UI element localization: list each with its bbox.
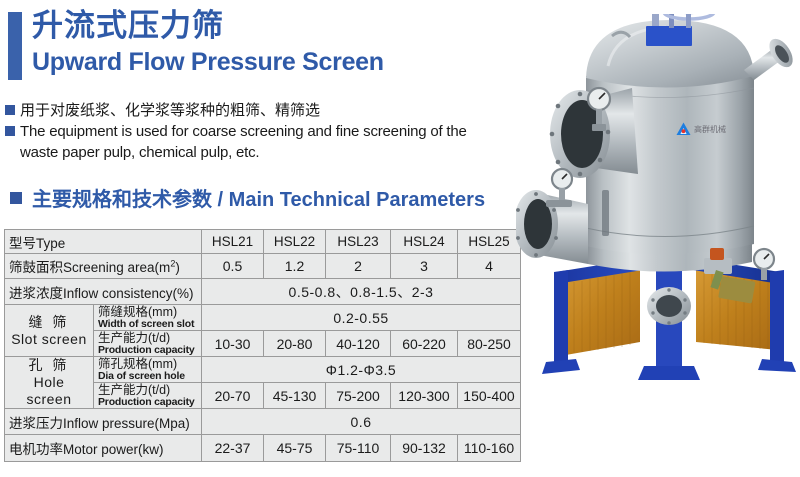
page-title-cn: 升流式压力筛 — [32, 8, 224, 44]
cell-motor-power-hsl25: 110-160 — [458, 435, 521, 462]
cell-area-hsl22: 1.2 — [264, 254, 326, 279]
description-item-en: The equipment is used for coarse screeni… — [4, 121, 524, 163]
description-text-en-line2: waste paper pulp, chemical pulp, etc. — [20, 142, 524, 163]
col-header-hsl25: HSL25 — [458, 230, 521, 254]
sub-label-hole-capacity-en: Production capacity — [98, 396, 197, 408]
base-foot-right — [758, 359, 796, 372]
table-row: 电机功率Motor power(kw) 22-37 45-75 75-110 9… — [5, 435, 521, 462]
base-foot-left — [542, 359, 580, 374]
row-label-inflow-consistency: 进浆浓度Inflow consistency(%) — [5, 279, 202, 305]
row-label-screening-area-tail: ) — [175, 260, 180, 275]
base-column-right — [770, 270, 784, 366]
specifications-table: 型号Type HSL21 HSL22 HSL23 HSL24 HSL25 筛鼓面… — [4, 229, 521, 462]
sub-label-hole-dia-cn: 筛孔规格(mm) — [98, 358, 197, 370]
upper-right-outlet — [744, 35, 797, 80]
cell-hole-capacity-hsl24: 120-300 — [391, 383, 458, 409]
square-bullet-icon — [10, 192, 22, 204]
cell-slot-capacity-hsl22: 20-80 — [264, 331, 326, 357]
description-text-cn: 用于对废纸浆、化学浆等浆种的粗筛、精筛选 — [20, 102, 320, 119]
table-row: 进浆压力Inflow pressure(Mpa) 0.6 — [5, 409, 521, 435]
cell-slot-capacity-hsl23: 40-120 — [326, 331, 391, 357]
gauge-stem-base — [761, 268, 767, 280]
pressure-screen-illustration — [516, 14, 800, 434]
sub-label-hole-dia-en: Dia of screen hole — [98, 370, 197, 382]
description-text-en-line1: The equipment is used for coarse screeni… — [20, 123, 467, 140]
square-bullet-icon — [5, 126, 15, 136]
machine-base-frame — [542, 254, 796, 380]
row-label-inflow-pressure: 进浆压力Inflow pressure(Mpa) — [5, 409, 202, 435]
row-label-motor-power: 电机功率Motor power(kw) — [5, 435, 202, 462]
sub-label-slot-capacity-cn: 生产能力(t/d) — [98, 332, 197, 344]
cell-motor-power-hsl24: 90-132 — [391, 435, 458, 462]
brand-logo: 高群机械 — [676, 122, 726, 136]
page-header: 升流式压力筛 Upward Flow Pressure Screen — [0, 0, 540, 92]
sub-label-hole-capacity-cn: 生产能力(t/d) — [98, 384, 197, 396]
base-foot-center — [638, 366, 700, 380]
pressure-gauge-lower — [546, 169, 572, 207]
col-header-hsl21: HSL21 — [202, 230, 264, 254]
gauge-stem-lower — [559, 188, 565, 202]
sub-label-slot-capacity: 生产能力(t/d) Production capacity — [94, 331, 202, 357]
group-label-slot-screen-en: Slot screen — [9, 331, 89, 348]
cell-hole-dia-value: Φ1.2-Φ3.5 — [202, 357, 521, 383]
title-accent-bar — [8, 12, 22, 80]
page-title-en: Upward Flow Pressure Screen — [32, 47, 384, 77]
side-drain-pipe — [602, 190, 609, 236]
sub-label-slot-width-cn: 筛缝规格(mm) — [98, 306, 197, 318]
col-header-hsl24: HSL24 — [391, 230, 458, 254]
table-row: 型号Type HSL21 HSL22 HSL23 HSL24 HSL25 — [5, 230, 521, 254]
handwheel-shaft — [686, 14, 691, 28]
sub-label-slot-width-en: Width of screen slot — [98, 318, 197, 330]
row-label-screening-area: 筛鼓面积Screening area(m2) — [5, 254, 202, 279]
cell-hole-capacity-hsl21: 20-70 — [202, 383, 264, 409]
valve-stem-pipe — [652, 14, 659, 28]
cell-hole-capacity-hsl25: 150-400 — [458, 383, 521, 409]
table-row: 筛鼓面积Screening area(m2) 0.5 1.2 2 3 4 — [5, 254, 521, 279]
table-row: 缝 筛 Slot screen 筛缝规格(mm) Width of screen… — [5, 305, 521, 331]
cell-inflow-pressure-value: 0.6 — [202, 409, 521, 435]
base-column-left — [554, 270, 568, 370]
description-block: 用于对废纸浆、化学浆等浆种的粗筛、精筛选 The equipment is us… — [4, 100, 524, 163]
cell-area-hsl24: 3 — [391, 254, 458, 279]
cell-motor-power-hsl23: 75-110 — [326, 435, 391, 462]
valve-body — [646, 26, 692, 46]
sub-label-hole-dia: 筛孔规格(mm) Dia of screen hole — [94, 357, 202, 383]
cell-hole-capacity-hsl22: 45-130 — [264, 383, 326, 409]
cell-area-hsl23: 2 — [326, 254, 391, 279]
section-heading: 主要规格和技术参数 / Main Technical Parameters — [4, 186, 524, 216]
lube-cap — [710, 248, 724, 260]
table-row: 孔 筛 Hole screen 筛孔规格(mm) Dia of screen h… — [5, 357, 521, 383]
sub-label-slot-width: 筛缝规格(mm) Width of screen slot — [94, 305, 202, 331]
row-label-screening-area-en: Screening area(m — [63, 260, 170, 275]
brand-logo-text: 高群机械 — [694, 124, 726, 135]
cell-area-hsl21: 0.5 — [202, 254, 264, 279]
cell-motor-power-hsl21: 22-37 — [202, 435, 264, 462]
page-root: 升流式压力筛 Upward Flow Pressure Screen 用于对废纸… — [0, 0, 800, 477]
cell-slot-width-value: 0.2-0.55 — [202, 305, 521, 331]
group-label-slot-screen: 缝 筛 Slot screen — [5, 305, 94, 357]
group-label-hole-screen-cn: 孔 筛 — [9, 357, 89, 374]
col-header-hsl23: HSL23 — [326, 230, 391, 254]
gauge-stem-upper — [596, 109, 602, 125]
group-label-hole-screen: 孔 筛 Hole screen — [5, 357, 94, 409]
cell-area-hsl25: 4 — [458, 254, 521, 279]
row-label-screening-area-cn: 筛鼓面积 — [9, 260, 63, 275]
row-label-type: 型号Type — [5, 230, 202, 254]
triangle-logo-icon — [676, 122, 691, 136]
cell-slot-capacity-hsl21: 10-30 — [202, 331, 264, 357]
cell-hole-capacity-hsl23: 75-200 — [326, 383, 391, 409]
group-label-hole-screen-en: Hole screen — [9, 374, 89, 408]
section-heading-text: 主要规格和技术参数 / Main Technical Parameters — [32, 183, 485, 212]
product-photo: 高群机械 — [516, 14, 800, 434]
sub-label-hole-capacity: 生产能力(t/d) Production capacity — [94, 383, 202, 409]
cell-inflow-consistency-value: 0.5-0.8、0.8-1.5、2-3 — [202, 279, 521, 305]
bottom-outlet-bore — [656, 295, 682, 317]
cell-slot-capacity-hsl24: 60-220 — [391, 331, 458, 357]
square-bullet-icon — [5, 105, 15, 115]
sub-label-slot-capacity-en: Production capacity — [98, 344, 197, 356]
gauge-valve-lower — [546, 200, 572, 207]
cell-motor-power-hsl22: 45-75 — [264, 435, 326, 462]
description-item-cn: 用于对废纸浆、化学浆等浆种的粗筛、精筛选 — [4, 100, 524, 121]
group-label-slot-screen-cn: 缝 筛 — [9, 314, 89, 331]
gauge-valve-upper — [592, 124, 606, 131]
col-header-hsl22: HSL22 — [264, 230, 326, 254]
table-row: 进浆浓度Inflow consistency(%) 0.5-0.8、0.8-1.… — [5, 279, 521, 305]
cell-slot-capacity-hsl25: 80-250 — [458, 331, 521, 357]
